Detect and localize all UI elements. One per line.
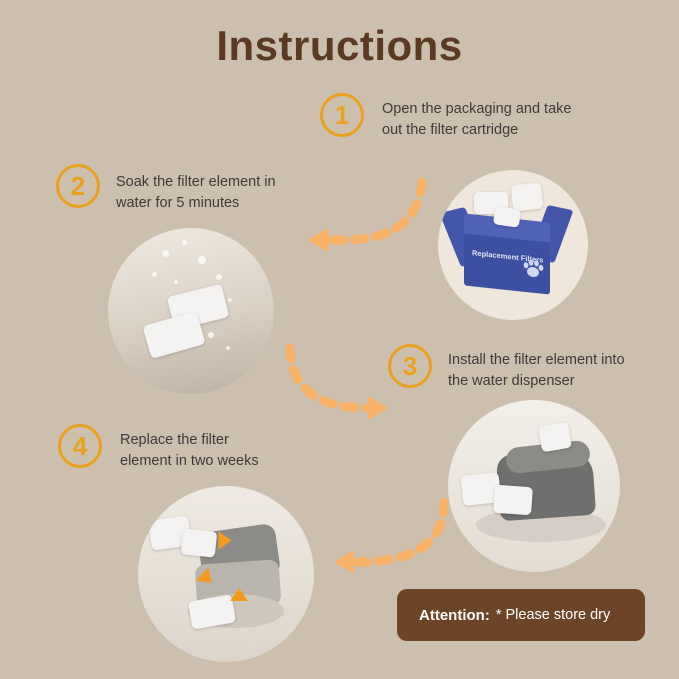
arrow-step3-to-step4 — [320, 494, 454, 582]
arrow-step1-to-step2 — [298, 168, 430, 260]
bubble-icon — [228, 298, 232, 302]
step-1-text: Open the packaging and take out the filt… — [382, 99, 622, 141]
bubble-icon — [162, 250, 169, 257]
page-title: Instructions — [0, 22, 679, 70]
insert-arrow-icon — [219, 532, 232, 550]
step-3-text: Install the filter element into the wate… — [448, 350, 674, 392]
attention-banner: Attention: * Please store dry — [397, 589, 645, 641]
bubble-icon — [198, 256, 206, 264]
step-4-text: Replace the filter element in two weeks — [120, 430, 330, 472]
filter-element-icon — [538, 422, 572, 453]
filter-element-icon — [493, 485, 533, 516]
step-4-number: 4 — [58, 424, 102, 468]
bubble-icon — [208, 332, 214, 338]
bubble-icon — [182, 240, 187, 245]
filter-cartridge-icon — [511, 183, 544, 212]
step-1-number: 1 — [320, 93, 364, 137]
step-2-number: 2 — [56, 164, 100, 208]
arrow-step2-to-step3 — [276, 340, 398, 428]
filter-cartridge-icon — [493, 206, 521, 227]
step-1-photo: Replacement Filters — [438, 170, 588, 320]
filter-element-icon — [142, 311, 205, 359]
attention-label: Attention: — [419, 607, 490, 624]
step-2-photo — [108, 228, 274, 394]
bubble-icon — [216, 274, 222, 280]
bubble-icon — [174, 280, 178, 284]
bubble-icon — [152, 272, 157, 277]
step-4-photo — [138, 486, 314, 662]
paw-print-icon — [522, 257, 544, 279]
insert-arrow-icon — [230, 588, 248, 601]
step-3-photo — [448, 400, 620, 572]
bubble-icon — [226, 346, 230, 350]
attention-text: * Please store dry — [496, 607, 610, 623]
filter-element-icon — [181, 528, 218, 557]
instructions-infographic: Instructions 1 Open the packaging and ta… — [0, 0, 679, 679]
